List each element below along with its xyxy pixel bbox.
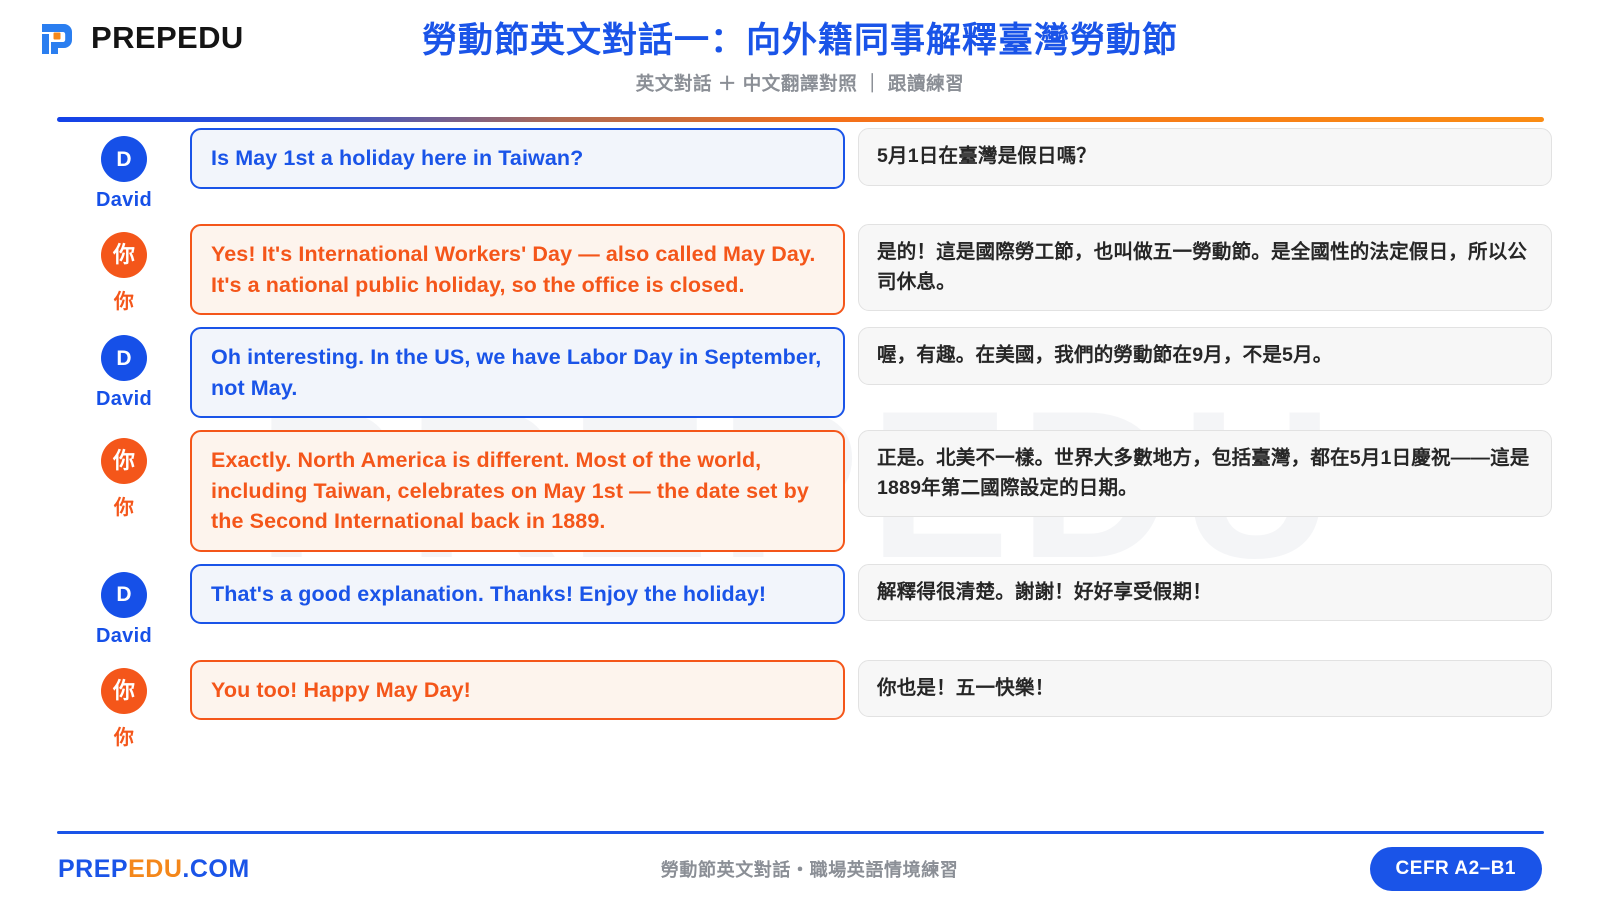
page-header: PREPEDU 勞動節英文對話一：向外籍同事解釋臺灣勞動節 英文對話 ＋ 中文翻… [0,0,1600,112]
avatar: 你 [101,232,147,278]
avatar: 你 [101,668,147,714]
dialogue-turn: D David Oh interesting. In the US, we ha… [58,327,1552,418]
speaker-column: 你 你 [58,660,190,750]
english-bubble[interactable]: That's a good explanation. Thanks! Enjoy… [190,564,845,625]
speaker-name: David [96,388,152,411]
footer-divider [57,831,1544,835]
dialogue-turn: D David Is May 1st a holiday here in Tai… [58,128,1552,212]
speaker-column: 你 你 [58,224,190,314]
speaker-column: D David [58,128,190,212]
header-divider [57,117,1544,122]
chinese-bubble[interactable]: 你也是！五一快樂！ [858,660,1552,718]
english-bubble[interactable]: Oh interesting. In the US, we have Labor… [190,327,845,418]
avatar: D [101,136,147,182]
title-block: 勞動節英文對話一：向外籍同事解釋臺灣勞動節 英文對話 ＋ 中文翻譯對照 ｜ 跟讀… [368,0,1232,96]
english-bubble[interactable]: You too! Happy May Day! [190,660,845,721]
dialogue-turn: D David That's a good explanation. Thank… [58,564,1552,648]
page-footer: PREPEDU.COM 勞動節英文對話・職場英語情境練習 CEFR A2–B1 [0,838,1600,900]
footer-caption: 勞動節英文對話・職場英語情境練習 [250,856,1370,882]
english-bubble[interactable]: Yes! It's International Workers' Day — a… [190,224,845,315]
dialogue-list: D David Is May 1st a holiday here in Tai… [0,128,1600,750]
chinese-bubble[interactable]: 5月1日在臺灣是假日嗎？ [858,128,1552,186]
page-subtitle: 英文對話 ＋ 中文翻譯對照 ｜ 跟讀練習 [368,70,1232,96]
chinese-bubble[interactable]: 喔，有趣。在美國，我們的勞動節在9月，不是5月。 [858,327,1552,385]
footer-brand[interactable]: PREPEDU.COM [58,855,250,884]
footer-brand-part1: PREP [58,855,128,883]
speaker-name: 你 [114,285,134,314]
page-title: 勞動節英文對話一：向外籍同事解釋臺灣勞動節 [368,20,1232,61]
dialogue-turn: 你 你 Yes! It's International Workers' Day… [58,224,1552,315]
chinese-bubble[interactable]: 正是。北美不一樣。世界大多數地方，包括臺灣，都在5月1日慶祝——這是1889年第… [858,430,1552,517]
dialogue-turn: 你 你 You too! Happy May Day! 你也是！五一快樂！ [58,660,1552,750]
speaker-name: 你 [114,721,134,750]
english-bubble[interactable]: Is May 1st a holiday here in Taiwan? [190,128,845,189]
speaker-name: David [96,189,152,212]
english-bubble[interactable]: Exactly. North America is different. Mos… [190,430,845,552]
avatar: D [101,572,147,618]
speaker-column: 你 你 [58,430,190,520]
speaker-column: D David [58,564,190,648]
brand-lockup: PREPEDU [38,0,368,58]
footer-brand-part3: .COM [182,855,249,883]
speaker-name: David [96,625,152,648]
speaker-column: D David [58,327,190,411]
chinese-bubble[interactable]: 是的！這是國際勞工節，也叫做五一勞動節。是全國性的法定假日，所以公司休息。 [858,224,1552,311]
prepedu-logo-icon [38,18,78,58]
footer-brand-part2: EDU [128,855,182,883]
brand-name: PREPEDU [91,20,244,56]
chinese-bubble[interactable]: 解釋得很清楚。謝謝！好好享受假期！ [858,564,1552,622]
avatar: D [101,335,147,381]
avatar: 你 [101,438,147,484]
speaker-name: 你 [114,491,134,520]
cefr-level-badge: CEFR A2–B1 [1370,847,1542,891]
dialogue-turn: 你 你 Exactly. North America is different.… [58,430,1552,552]
